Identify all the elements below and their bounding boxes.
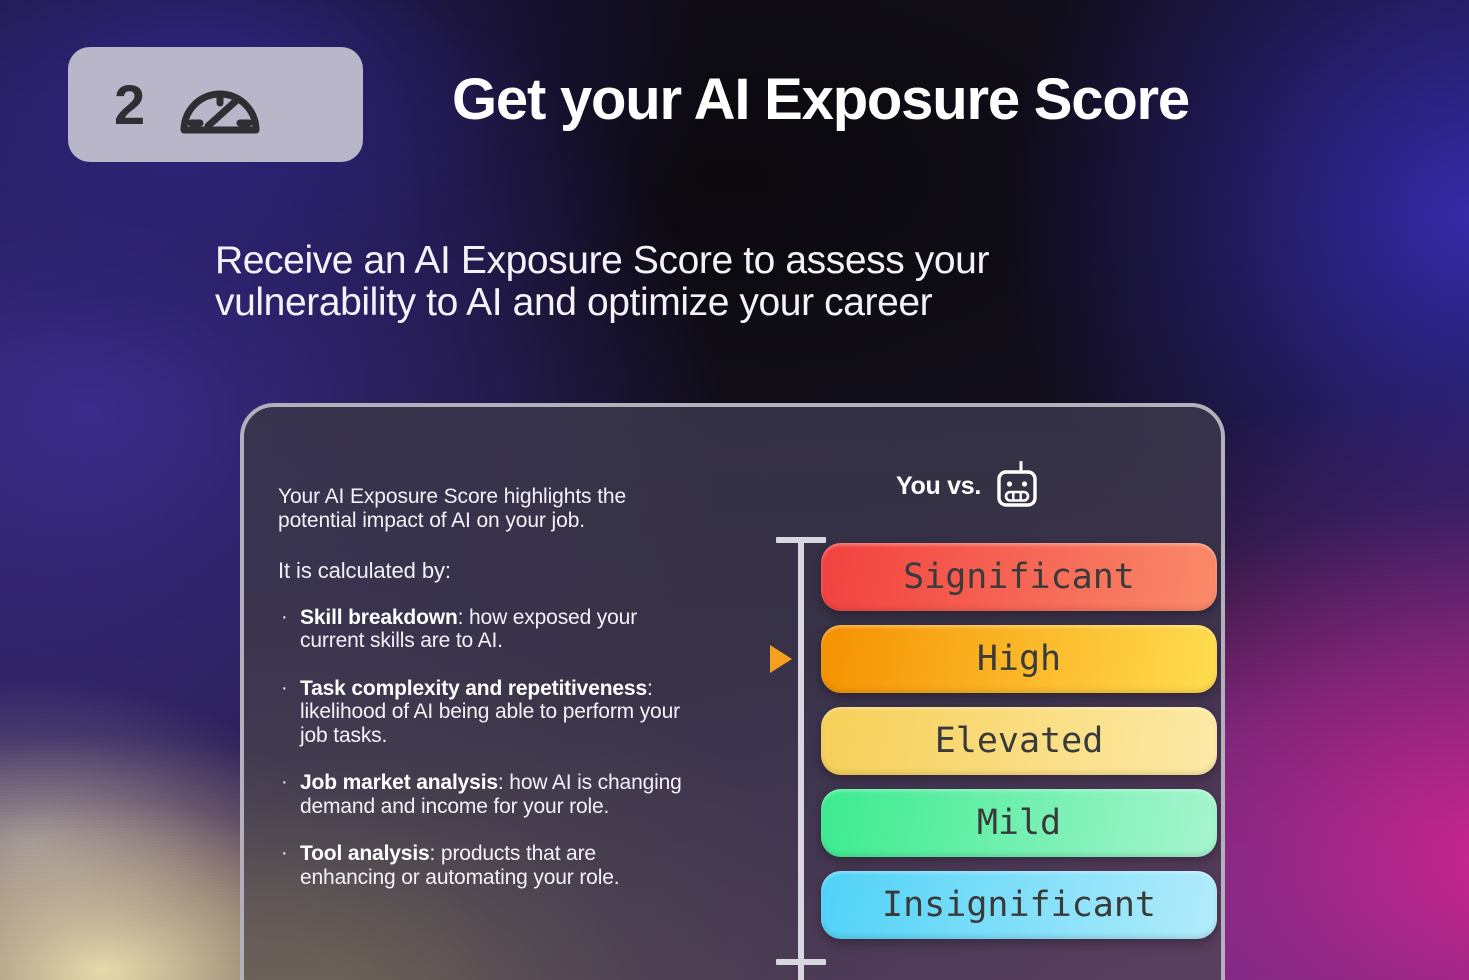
list-item-text: Task complexity and repetitiveness: like… bbox=[300, 677, 694, 748]
calculated-by-label: It is calculated by: bbox=[278, 558, 694, 584]
gauge-icon bbox=[178, 74, 262, 136]
intro-paragraph: Your AI Exposure Score highlights the po… bbox=[278, 485, 694, 533]
scale-axis-cap-bottom bbox=[776, 959, 826, 965]
scale-bar-label: Significant bbox=[903, 557, 1135, 597]
list-item-term: Tool analysis bbox=[300, 842, 430, 865]
comparison-header: You vs. bbox=[694, 461, 1221, 511]
page-title: Get your AI Exposure Score bbox=[452, 66, 1189, 133]
bullet-dot-icon: · bbox=[278, 771, 300, 818]
scale-bar-label: High bbox=[977, 639, 1061, 679]
list-item: · Tool analysis: products that are enhan… bbox=[278, 842, 694, 889]
comparison-label: You vs. bbox=[896, 472, 981, 501]
robot-icon bbox=[991, 461, 1039, 511]
list-item-term: Task complexity and repetitiveness bbox=[300, 677, 647, 700]
scale-bar-group: Significant High Elevated Mild Insignifi… bbox=[821, 543, 1217, 939]
page-subtitle: Receive an AI Exposure Score to assess y… bbox=[215, 240, 1145, 324]
list-item-term: Skill breakdown bbox=[300, 606, 458, 629]
list-item: · Job market analysis: how AI is changin… bbox=[278, 771, 694, 818]
scale-bar-high[interactable]: High bbox=[821, 625, 1217, 693]
bullet-dot-icon: · bbox=[278, 842, 300, 889]
score-pointer-icon bbox=[770, 645, 792, 673]
scale-bar-label: Elevated bbox=[935, 721, 1104, 761]
list-item: · Skill breakdown: how exposed your curr… bbox=[278, 606, 694, 653]
list-item-text: Skill breakdown: how exposed your curren… bbox=[300, 606, 694, 653]
list-item-term: Job market analysis bbox=[300, 771, 498, 794]
score-card: Your AI Exposure Score highlights the po… bbox=[240, 403, 1225, 980]
list-item-text: Tool analysis: products that are enhanci… bbox=[300, 842, 694, 889]
criteria-list: · Skill breakdown: how exposed your curr… bbox=[278, 606, 694, 890]
step-badge: 2 bbox=[68, 47, 363, 162]
slide-canvas: 2 Get your AI Exposure Score Receive an … bbox=[0, 0, 1469, 980]
scale-bar-mild[interactable]: Mild bbox=[821, 789, 1217, 857]
step-number: 2 bbox=[114, 77, 144, 133]
exposure-scale: Significant High Elevated Mild Insignifi… bbox=[694, 529, 1221, 980]
bullet-dot-icon: · bbox=[278, 677, 300, 748]
scale-axis-line bbox=[798, 537, 804, 980]
scale-bar-label: Insignificant bbox=[882, 885, 1156, 925]
scale-bar-elevated[interactable]: Elevated bbox=[821, 707, 1217, 775]
card-left-column: Your AI Exposure Score highlights the po… bbox=[244, 407, 694, 980]
scale-bar-insignificant[interactable]: Insignificant bbox=[821, 871, 1217, 939]
bullet-dot-icon: · bbox=[278, 606, 300, 653]
list-item: · Task complexity and repetitiveness: li… bbox=[278, 677, 694, 748]
list-item-text: Job market analysis: how AI is changing … bbox=[300, 771, 694, 818]
scale-bar-significant[interactable]: Significant bbox=[821, 543, 1217, 611]
scale-axis-cap-top bbox=[776, 537, 826, 543]
scale-bar-label: Mild bbox=[977, 803, 1061, 843]
card-right-column: You vs. bbox=[694, 407, 1221, 980]
